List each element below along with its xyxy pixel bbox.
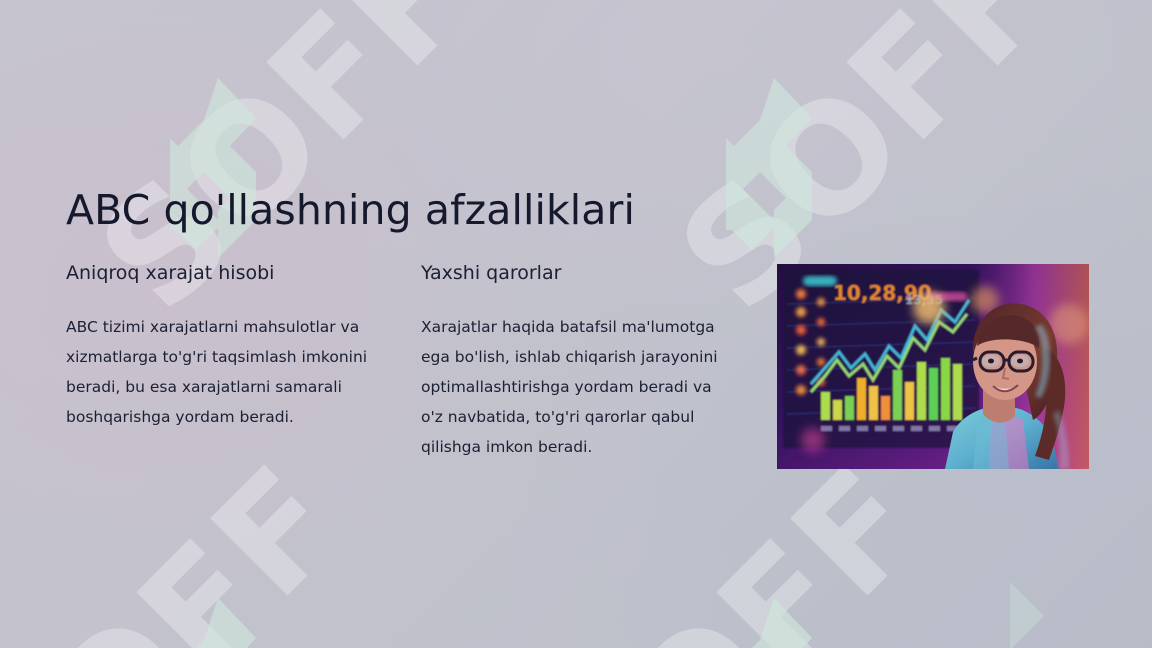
column-two: Yaxshi qarorlar Xarajatlar haqida batafs… <box>421 262 731 462</box>
page-title: ABC qo'llashning afzalliklari <box>66 187 635 234</box>
slide-content: ABC qo'llashning afzalliklari Aniqroq xa… <box>0 0 1152 648</box>
illustration-photo: 10,28,90 13,35 <box>777 264 1089 469</box>
column-one: Aniqroq xarajat hisobi ABC tizimi xaraja… <box>66 262 378 432</box>
column-one-body: ABC tizimi xarajatlarni mahsulotlar va x… <box>66 312 378 432</box>
column-two-body: Xarajatlar haqida batafsil ma'lumotga eg… <box>421 312 731 462</box>
column-two-heading: Yaxshi qarorlar <box>421 262 731 286</box>
slide: SOFF SOFF SOFF SOFF <box>0 0 1152 648</box>
column-one-heading: Aniqroq xarajat hisobi <box>66 262 378 286</box>
